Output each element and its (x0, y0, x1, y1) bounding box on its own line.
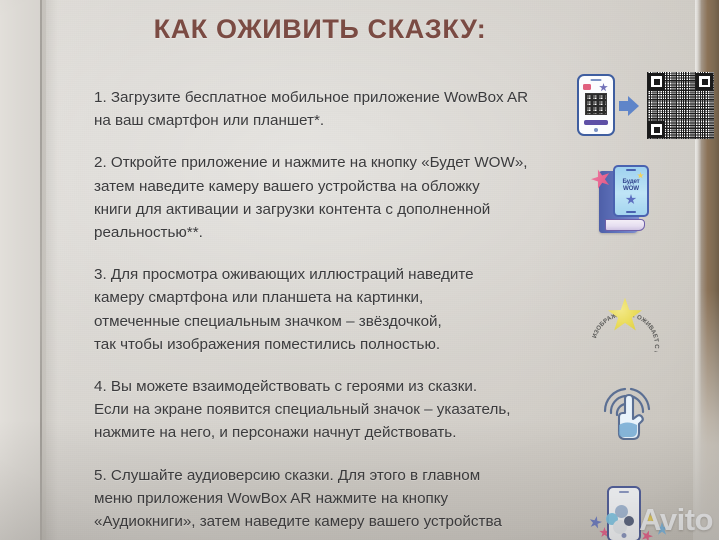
qr-code-on-screen-icon (585, 93, 607, 115)
book-page-photo: КАК ОЖИВИТЬ СКАЗКУ: 1. Загрузите бесплат… (0, 0, 719, 540)
phone-home-button-icon (594, 128, 598, 132)
star-icon (639, 528, 654, 540)
tablet-screen-text: Будет WOW (618, 178, 644, 192)
phone-action-bar-icon (584, 120, 608, 125)
qr-code-icon (647, 72, 714, 139)
star-icon (626, 194, 637, 205)
instruction-step-2: 2. Откройте приложение и нажмите на кноп… (94, 151, 576, 244)
step-4-line-2: Если на экране появится специальный знач… (94, 398, 576, 421)
phone-badge-icon (583, 84, 591, 90)
step-4-line-1: 4. Вы можете взаимодействовать с героями… (94, 375, 576, 398)
star-icon (643, 511, 658, 526)
page-fold-shadow (42, 0, 58, 540)
step-5-line-1: 5. Слушайте аудиоверсию сказки. Для этог… (94, 464, 576, 487)
smartphone-with-qr-icon (577, 74, 615, 136)
smartphone-icon (607, 486, 641, 540)
instruction-step-4: 4. Вы можете взаимодействовать с героями… (94, 375, 576, 445)
phone-qr-scan-icon (575, 72, 719, 144)
tablet-icon: Будет WOW (613, 165, 649, 217)
phone-speaker-icon (591, 79, 602, 81)
step-5-line-3: «Аудиокниги», затем наведите камеру ваше… (94, 510, 576, 533)
step-1-line-1: 1. Загрузите бесплатное мобильное прилож… (94, 86, 576, 109)
instruction-step-5: 5. Слушайте аудиоверсию сказки. Для этог… (94, 464, 576, 534)
instruction-step-3: 3. Для просмотра оживающих иллюстраций н… (94, 263, 576, 356)
step-2-line-1: 2. Откройте приложение и нажмите на кноп… (94, 151, 576, 174)
step-3-line-1: 3. Для просмотра оживающих иллюстраций н… (94, 263, 576, 286)
step-3-line-4: так чтобы изображения поместились полнос… (94, 333, 576, 356)
step-3-line-2: камеру смартфона или планшета на картинк… (94, 286, 576, 309)
step-5-line-2: меню приложения WowBox AR нажмите на кно… (94, 487, 576, 510)
step-4-line-3: нажмите на него, и персонажи начнут дейс… (94, 421, 576, 444)
step-1-line-2: на ваш смартфон или планшет*. (94, 109, 576, 132)
step-2-line-2: затем наведите камеру вашего устройства … (94, 175, 576, 198)
star-icon (599, 83, 608, 92)
tap-hand-pointer-icon (595, 381, 665, 443)
instruction-step-1: 1. Загрузите бесплатное мобильное прилож… (94, 86, 576, 132)
step-2-line-3: книги для активации и загрузки контента … (94, 198, 576, 221)
yellow-star-badge-icon: ИЗОБРАЖЕНИЕ ОЖИВАЕТ С ПОМОЩЬЮ AR (585, 276, 673, 354)
star-icon (588, 515, 603, 530)
instruction-list: 1. Загрузите бесплатное мобильное прилож… (94, 86, 576, 533)
step-2-line-4: реальностью**. (94, 221, 576, 244)
star-icon (655, 522, 669, 536)
step-3-line-3: отмеченные специальным значком – звёздоч… (94, 310, 576, 333)
book-pages-icon (605, 219, 645, 231)
page-title: КАК ОЖИВИТЬ СКАЗКУ: (0, 14, 640, 45)
phone-with-confetti-stars-icon (583, 486, 693, 540)
step-icon-column: Будет WOW ИЗОБРАЖЕНИЕ ОЖИВАЕТ С ПОМОЩЬЮ … (575, 0, 719, 540)
book-tablet-star-icon: Будет WOW (587, 163, 671, 235)
